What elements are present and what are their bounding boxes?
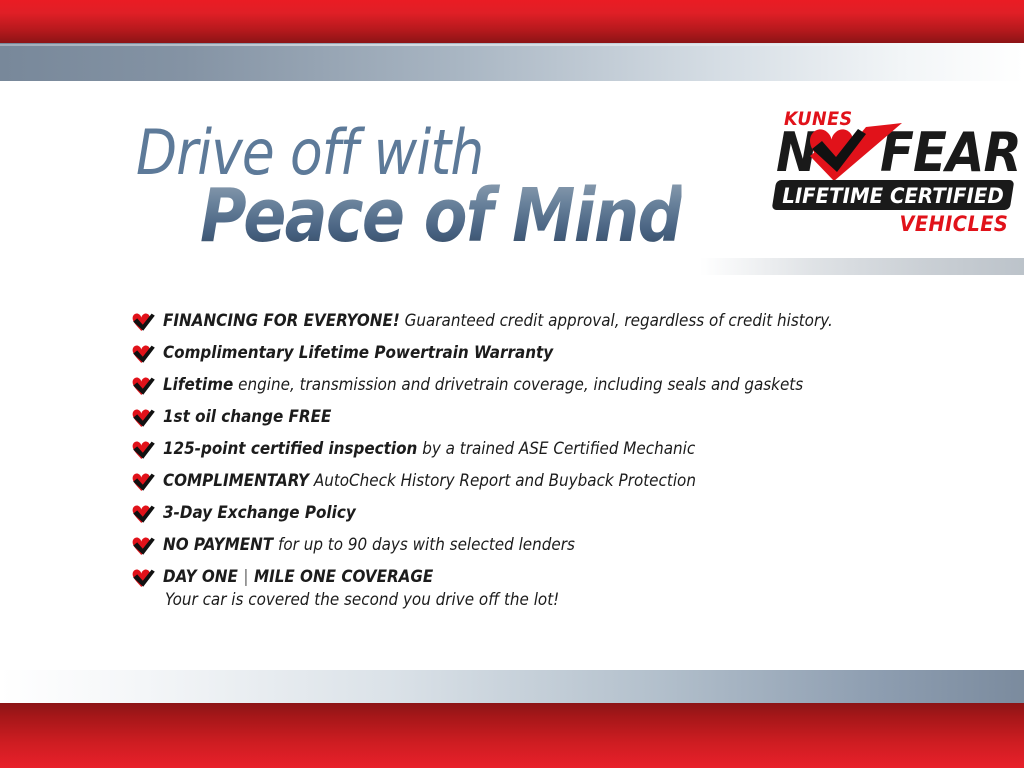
benefit-text: FINANCING FOR EVERYONE! Guaranteed credi… [163, 310, 870, 332]
heart-check-icon [131, 567, 155, 588]
benefit-detail: engine, transmission and drivetrain cove… [233, 375, 803, 394]
heart-check-icon [131, 375, 155, 396]
benefit-text: Complimentary Lifetime Powertrain Warran… [163, 342, 870, 364]
benefit-highlight-2: MILE ONE COVERAGE [254, 567, 433, 586]
benefit-item: 1st oil change FREE [131, 406, 931, 428]
heart-check-icon [131, 503, 155, 524]
benefit-item: 125-point certified inspection by a trai… [131, 438, 931, 460]
heart-check-icon [131, 439, 155, 460]
kunes-no-fear-logo: KUNES N FEAR LIFETIME CERTIFIED VEHICLES [770, 108, 1014, 244]
heart-check-icon [131, 407, 155, 428]
benefit-highlight: Lifetime [163, 375, 233, 394]
heart-check-icon [131, 375, 155, 396]
heart-check-icon [806, 123, 902, 183]
benefit-item: NO PAYMENT for up to 90 days with select… [131, 534, 931, 556]
benefit-item: Complimentary Lifetime Powertrain Warran… [131, 342, 931, 364]
bottom-gray-band [0, 670, 1024, 703]
heart-check-icon [131, 439, 155, 460]
benefit-item: DAY ONE | MILE ONE COVERAGEYour car is c… [131, 566, 931, 611]
benefit-detail: by a trained ASE Certified Mechanic [417, 439, 695, 458]
benefit-item: Lifetime engine, transmission and drivet… [131, 374, 931, 396]
heart-check-icon [131, 471, 155, 492]
heart-check-icon [131, 567, 155, 588]
heart-check-icon [131, 343, 155, 364]
benefit-highlight: 1st oil change FREE [163, 407, 331, 426]
headline-line-2: Peace of Mind [200, 178, 681, 254]
benefit-item: FINANCING FOR EVERYONE! Guaranteed credi… [131, 310, 931, 332]
heart-check-icon [131, 343, 155, 364]
benefit-item: COMPLIMENTARY AutoCheck History Report a… [131, 470, 931, 492]
top-red-band [0, 0, 1024, 43]
benefit-text: NO PAYMENT for up to 90 days with select… [163, 534, 870, 556]
benefit-text: Lifetime engine, transmission and drivet… [163, 374, 870, 396]
logo-vehicles-text: VEHICLES [899, 212, 1008, 236]
benefit-highlight: Complimentary Lifetime Powertrain Warran… [163, 343, 553, 362]
promo-banner: Drive off with Peace of Mind KUNES N FEA… [0, 0, 1024, 768]
heart-check-icon [131, 407, 155, 428]
logo-wordmark: N FEAR [770, 127, 1014, 182]
benefit-detail: AutoCheck History Report and Buyback Pro… [309, 471, 696, 490]
benefit-highlight: 125-point certified inspection [163, 439, 417, 458]
header-divider [700, 258, 1024, 275]
top-gray-band [0, 43, 1024, 81]
heart-check-icon [131, 471, 155, 492]
benefit-text: DAY ONE | MILE ONE COVERAGE [163, 566, 870, 588]
headline: Drive off with Peace of Mind [136, 122, 760, 254]
benefit-text: 3-Day Exchange Policy [163, 502, 870, 524]
benefit-highlight: COMPLIMENTARY [163, 471, 309, 490]
benefit-highlight: NO PAYMENT [163, 535, 273, 554]
heart-check-icon [131, 535, 155, 556]
benefit-subtext: Your car is covered the second you drive… [165, 588, 870, 611]
heart-check-icon [131, 311, 155, 332]
heart-check-icon [131, 535, 155, 556]
heart-check-icon [131, 311, 155, 332]
benefits-list: FINANCING FOR EVERYONE! Guaranteed credi… [131, 310, 931, 611]
benefit-detail: for up to 90 days with selected lenders [273, 535, 575, 554]
top-gray-band-highlight [0, 44, 1024, 46]
benefit-highlight: FINANCING FOR EVERYONE! [163, 311, 400, 330]
benefit-detail: Guaranteed credit approval, regardless o… [400, 311, 833, 330]
benefit-text: COMPLIMENTARY AutoCheck History Report a… [163, 470, 870, 492]
benefit-highlight: 3-Day Exchange Policy [163, 503, 356, 522]
benefit-item: 3-Day Exchange Policy [131, 502, 931, 524]
logo-bar-text: LIFETIME CERTIFIED [783, 182, 1003, 209]
bottom-red-band [0, 703, 1024, 768]
benefit-text: 125-point certified inspection by a trai… [163, 438, 870, 460]
benefit-highlight: DAY ONE [163, 567, 238, 586]
heart-check-icon [131, 503, 155, 524]
benefit-separator: | [238, 567, 254, 586]
benefit-text: 1st oil change FREE [163, 406, 870, 428]
